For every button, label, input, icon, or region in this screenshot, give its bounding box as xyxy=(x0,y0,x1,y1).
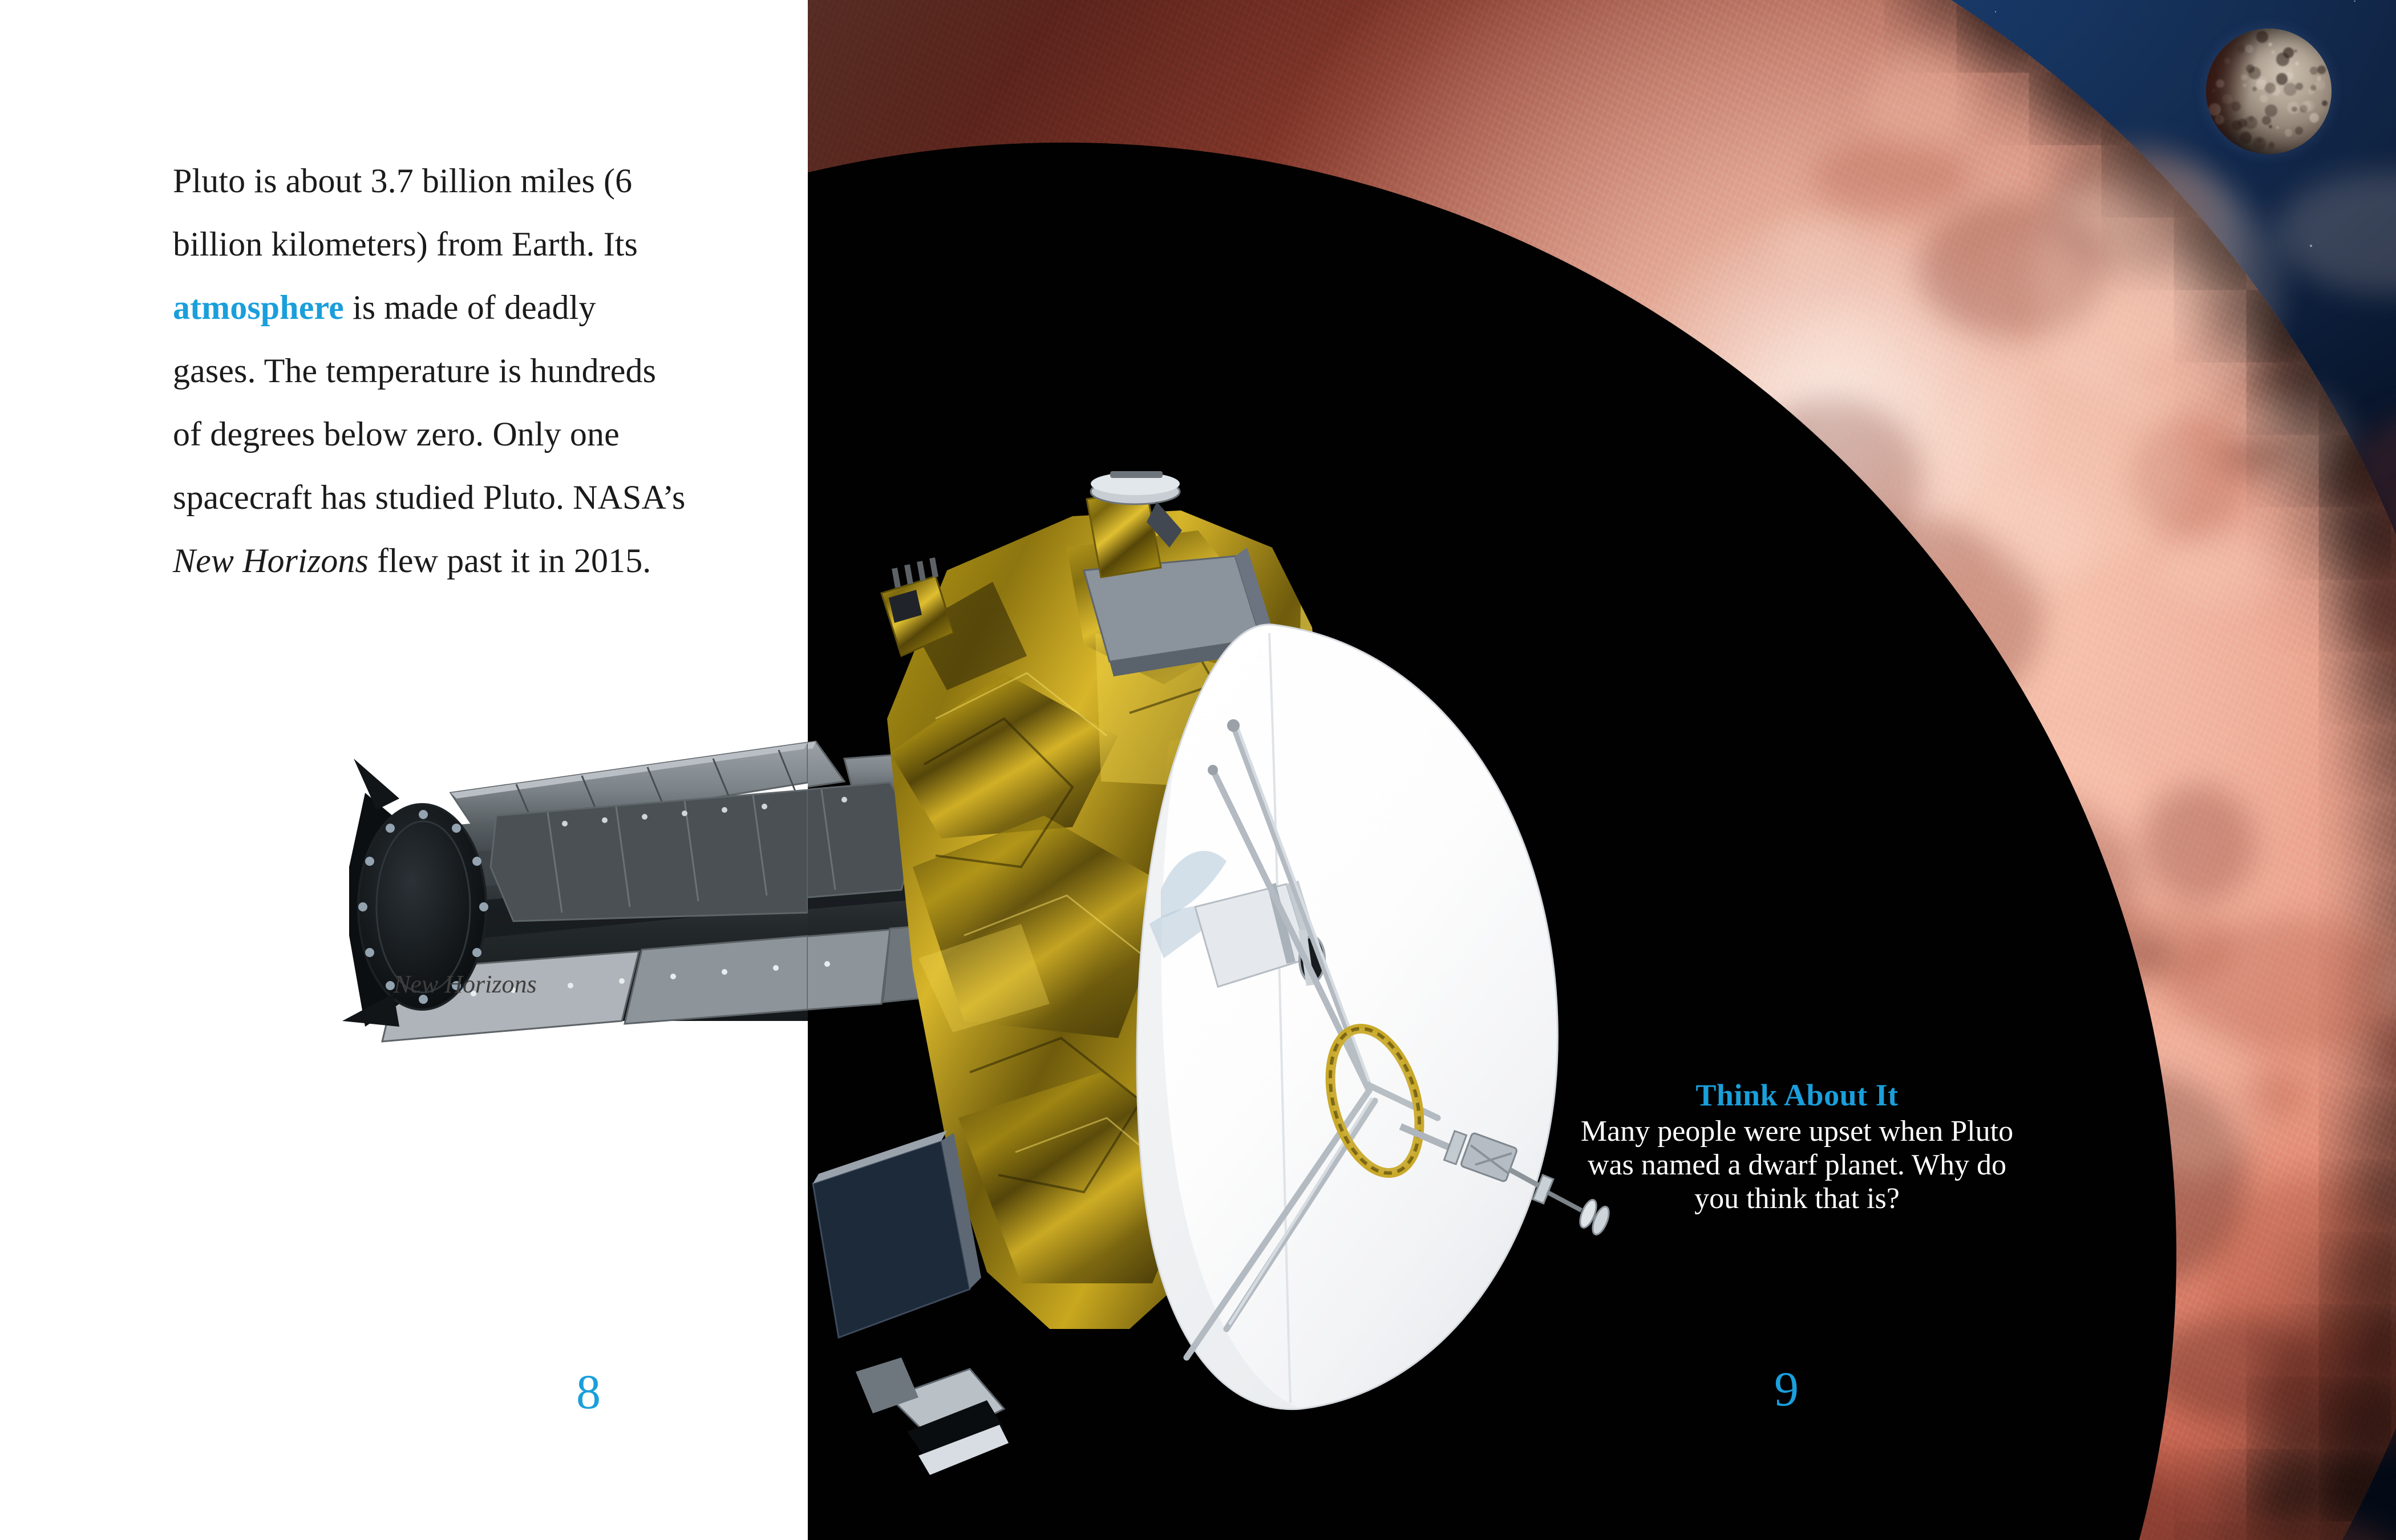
space-illustration xyxy=(807,0,2396,1540)
think-about-it-question: Many people were upset when Pluto was na… xyxy=(1563,1115,2031,1215)
charon-moon xyxy=(2206,29,2332,154)
glossary-term-atmosphere[interactable]: atmosphere xyxy=(173,289,344,326)
body-text-part-1: Pluto is about 3.7 billion miles (6 bill… xyxy=(173,162,638,263)
think-about-it-title: Think About It xyxy=(1563,1078,2031,1112)
book-spread: Pluto is about 3.7 billion miles (6 bill… xyxy=(0,0,2396,1540)
body-text-part-3: flew past it in 2015. xyxy=(369,542,651,579)
think-about-it-box: Think About It Many people were upset wh… xyxy=(1563,1078,2031,1215)
page-number-right: 9 xyxy=(1774,1360,1799,1417)
charon-terminator-shadow xyxy=(2206,29,2332,154)
page-number-left: 8 xyxy=(576,1363,601,1420)
figure-caption: New Horizons xyxy=(394,970,537,999)
body-paragraph: Pluto is about 3.7 billion miles (6 bill… xyxy=(173,149,686,593)
spacecraft-name-italic: New Horizons xyxy=(173,542,369,579)
